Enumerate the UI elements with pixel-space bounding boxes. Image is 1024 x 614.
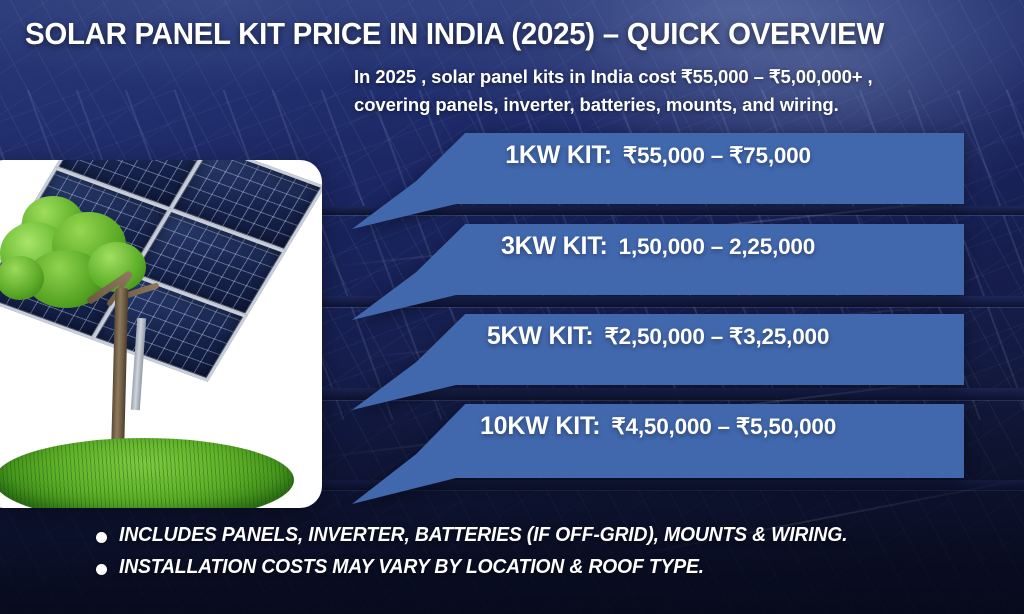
note-text: INCLUDES PANELS, INVERTER, BATTERIES (IF… [119,524,847,547]
bullet-dot-icon [96,532,107,543]
grass-patch [0,438,294,508]
ribbon-kw-label: 10KW KIT: [480,412,607,440]
notes-list: INCLUDES PANELS, INVERTER, BATTERIES (IF… [96,524,870,588]
ribbon-price: ₹55,000 – ₹75,000 [623,143,811,168]
ribbon-price: ₹4,50,000 – ₹5,50,000 [611,414,836,439]
ribbon-text: 10KW KIT: ₹4,50,000 – ₹5,50,000 [352,412,964,441]
subtitle-line-2: covering panels, inverter, batteries, mo… [354,91,1014,119]
page-title: SOLAR PANEL KIT PRICE IN INDIA (2025) – … [25,16,884,52]
ribbon-text: 5KW KIT: ₹2,50,000 – ₹3,25,000 [352,322,964,351]
price-ribbon-3kw[interactable]: 3KW KIT: 1,50,000 – 2,25,000 [352,224,964,320]
solar-photo-card [0,160,322,508]
ribbon-price: ₹2,50,000 – ₹3,25,000 [605,324,830,349]
ribbon-price: 1,50,000 – 2,25,000 [619,234,815,259]
photo-inner [0,160,322,508]
subtitle-block: In 2025 , solar panel kits in India cost… [354,63,1014,119]
subtitle-line-1: In 2025 , solar panel kits in India cost… [354,63,1014,91]
price-ribbon-1kw[interactable]: 1KW KIT: ₹55,000 – ₹75,000 [352,133,964,229]
ribbon-kw-label: 1KW KIT: [505,141,618,169]
list-item: INCLUDES PANELS, INVERTER, BATTERIES (IF… [96,524,870,547]
ribbon-text: 1KW KIT: ₹55,000 – ₹75,000 [352,141,964,170]
infographic-root: SOLAR PANEL KIT PRICE IN INDIA (2025) – … [0,0,1024,614]
bullet-dot-icon [96,564,107,575]
note-text: INSTALLATION COSTS MAY VARY BY LOCATION … [119,556,704,579]
ribbon-kw-label: 3KW KIT: [501,232,614,260]
ribbon-kw-label: 5KW KIT: [487,322,600,350]
price-ribbon-10kw[interactable]: 10KW KIT: ₹4,50,000 – ₹5,50,000 [352,404,964,504]
ribbon-text: 3KW KIT: 1,50,000 – 2,25,000 [352,232,964,261]
list-item: INSTALLATION COSTS MAY VARY BY LOCATION … [96,556,870,579]
price-ribbon-5kw[interactable]: 5KW KIT: ₹2,50,000 – ₹3,25,000 [352,314,964,410]
